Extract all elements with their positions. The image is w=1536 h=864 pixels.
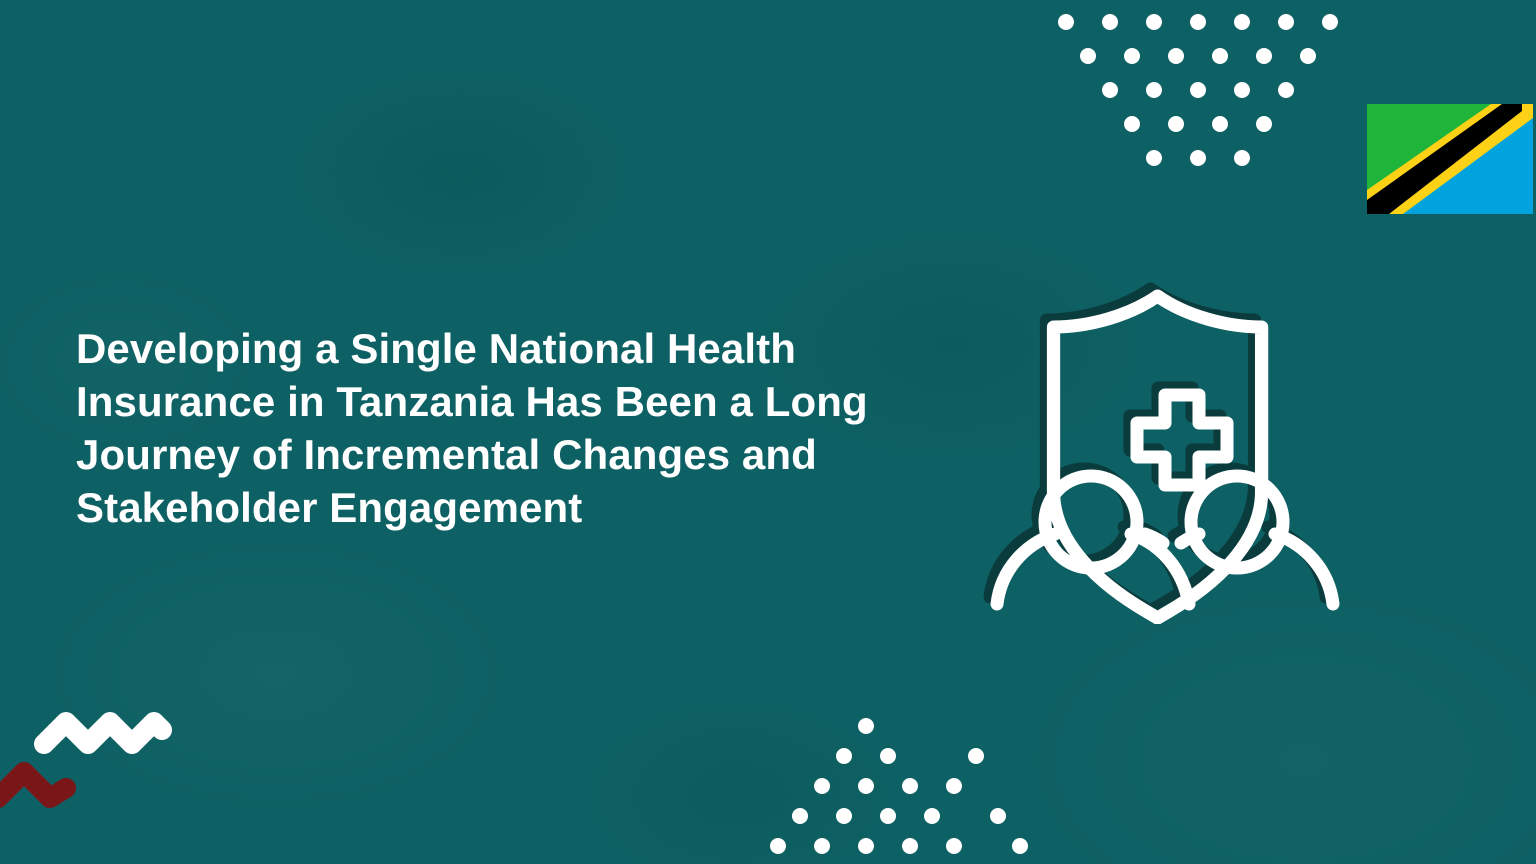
zigzag-red-decoration <box>0 762 78 808</box>
title-line-3: Journey of Incremental Changes and <box>76 428 956 481</box>
shoulder-gap-right <box>1181 534 1199 543</box>
title-line-1: Developing a Single National Health <box>76 322 956 375</box>
zigzag-white-decoration <box>36 712 170 754</box>
tanzania-flag <box>1367 104 1533 214</box>
slide-canvas: Developing a Single National Health Insu… <box>0 0 1536 864</box>
shoulder-gap-left <box>1145 534 1163 543</box>
dot-pattern-bottom <box>756 706 1066 864</box>
title-line-2: Insurance in Tanzania Has Been a Long <box>76 375 956 428</box>
icon-main-layer <box>997 296 1333 618</box>
icon-shadow-layer <box>990 289 1326 611</box>
page-title: Developing a Single National Health Insu… <box>76 322 956 534</box>
person-left-shoulder-outer <box>997 534 1055 604</box>
title-line-4: Stakeholder Engagement <box>76 481 956 534</box>
health-shield-people-icon <box>975 252 1355 624</box>
dot-pattern-top-right <box>1030 0 1360 174</box>
